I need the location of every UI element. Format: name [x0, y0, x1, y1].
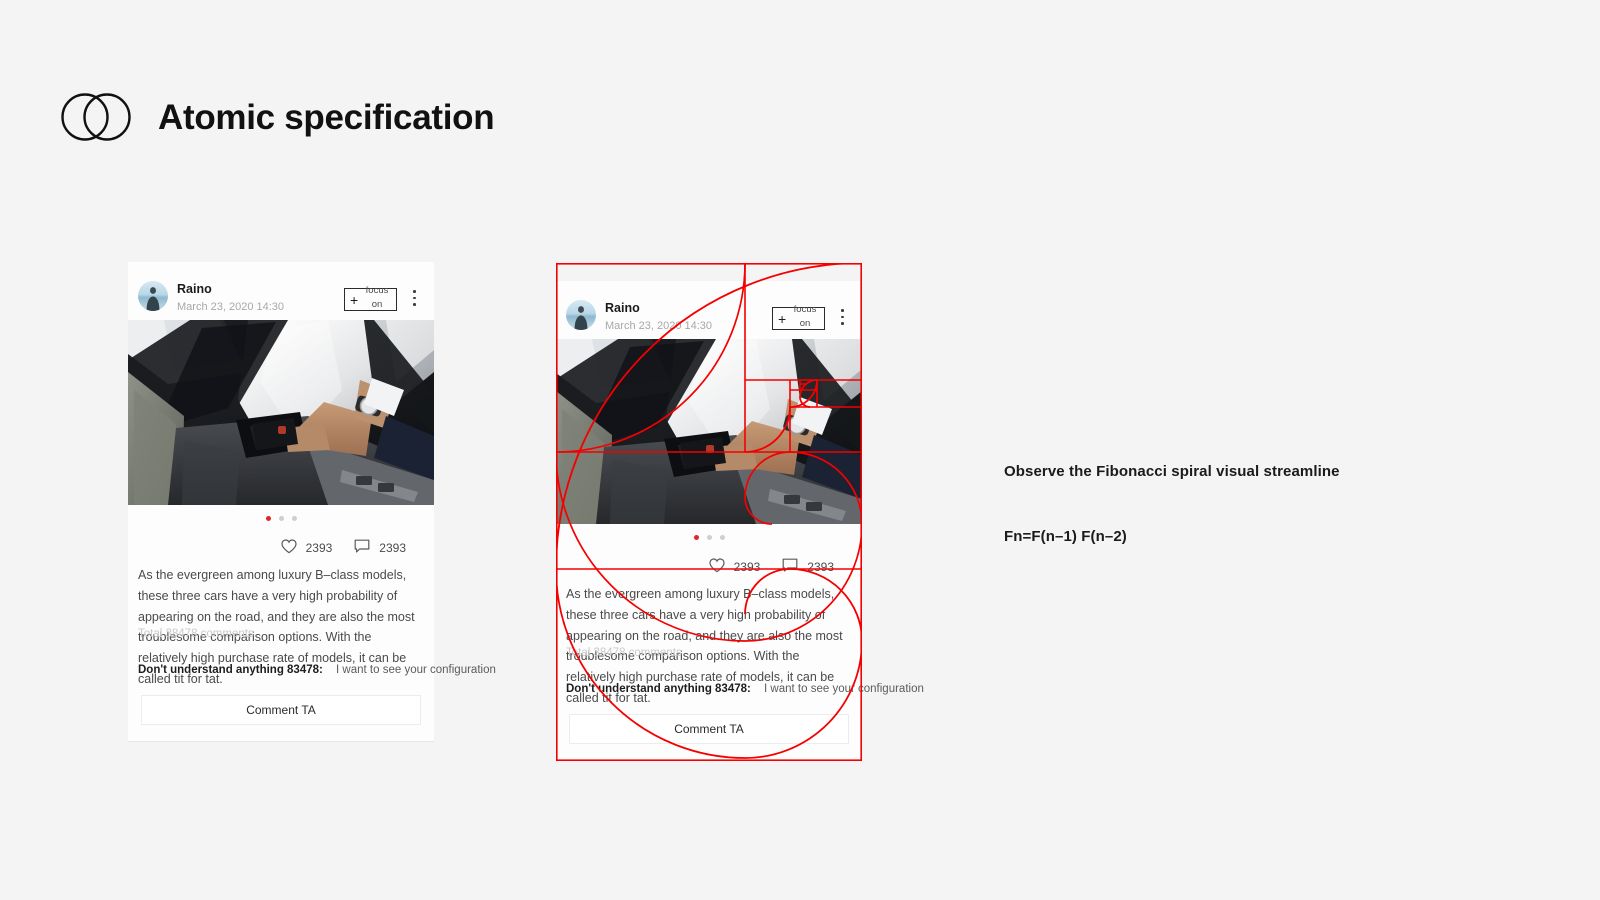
kebab-menu-icon[interactable] [841, 309, 845, 327]
comment-button[interactable]: 2393 [782, 558, 834, 576]
focus-on-label: focus on [792, 303, 818, 331]
carousel-dot-2[interactable] [707, 535, 712, 540]
avatar[interactable] [138, 281, 168, 311]
comment-count: 2393 [379, 541, 406, 555]
post-date: March 23, 2020 14:30 [605, 321, 712, 332]
carousel-dots[interactable] [556, 524, 862, 550]
like-button[interactable]: 2393 [709, 558, 761, 576]
first-comment-user: Don't understand anything 83478: [566, 683, 751, 695]
carousel-dot-3[interactable] [720, 535, 725, 540]
page-title: Atomic specification [158, 100, 494, 135]
like-count: 2393 [734, 560, 761, 574]
carousel-dots[interactable] [128, 505, 434, 531]
post-card-fibonacci: Raino March 23, 2020 14:30 + focus on [556, 281, 862, 761]
first-comment: Don't understand anything 83478: I want … [566, 684, 924, 696]
post-card-plain: Raino March 23, 2020 14:30 + focus on [128, 262, 434, 742]
first-comment: Don't understand anything 83478: I want … [138, 665, 496, 677]
carousel-dot-1[interactable] [266, 516, 271, 521]
comment-ta-button[interactable]: Comment TA [569, 714, 849, 744]
reactions-row: 2393 2393 [128, 531, 434, 565]
carousel-dot-3[interactable] [292, 516, 297, 521]
post-photo[interactable] [556, 339, 862, 524]
heart-icon [281, 539, 297, 557]
focus-on-button[interactable]: + focus on [344, 288, 397, 311]
reactions-row: 2393 2393 [556, 550, 862, 584]
heart-icon [709, 558, 725, 576]
page-header: Atomic specification [60, 92, 494, 142]
focus-on-button[interactable]: + focus on [772, 307, 825, 330]
like-count: 2393 [306, 541, 333, 555]
annotation-fibonacci-note: Observe the Fibonacci spiral visual stre… [1004, 464, 1340, 479]
author-name: Raino [605, 302, 640, 315]
speech-bubble-icon [354, 539, 370, 557]
focus-on-label: focus on [364, 284, 390, 312]
plus-icon: + [350, 294, 358, 306]
first-comment-text: I want to see your configuration [764, 683, 924, 695]
comment-button[interactable]: 2393 [354, 539, 406, 557]
avatar[interactable] [566, 300, 596, 330]
total-comments-label: Total 38478 comments [138, 629, 254, 641]
total-comments-label: Total 38478 comments [566, 648, 682, 660]
speech-bubble-icon [782, 558, 798, 576]
like-button[interactable]: 2393 [281, 539, 333, 557]
post-date: March 23, 2020 14:30 [177, 302, 284, 313]
carousel-dot-1[interactable] [694, 535, 699, 540]
annotation-formula: Fn=F(n–1) F(n–2) [1004, 529, 1127, 544]
first-comment-user: Don't understand anything 83478: [138, 664, 323, 676]
comment-ta-button[interactable]: Comment TA [141, 695, 421, 725]
post-header: Raino March 23, 2020 14:30 + focus on [556, 281, 862, 339]
post-header: Raino March 23, 2020 14:30 + focus on [128, 262, 434, 320]
two-overlapping-circles-icon [60, 92, 132, 142]
post-body-wrap: As the evergreen among luxury B–class mo… [556, 584, 862, 702]
first-comment-text: I want to see your configuration [336, 664, 496, 676]
carousel-dot-2[interactable] [279, 516, 284, 521]
post-photo[interactable] [128, 320, 434, 505]
post-body-wrap: As the evergreen among luxury B–class mo… [128, 565, 434, 683]
plus-icon: + [778, 313, 786, 325]
kebab-menu-icon[interactable] [413, 290, 417, 308]
author-name: Raino [177, 283, 212, 296]
comment-count: 2393 [807, 560, 834, 574]
